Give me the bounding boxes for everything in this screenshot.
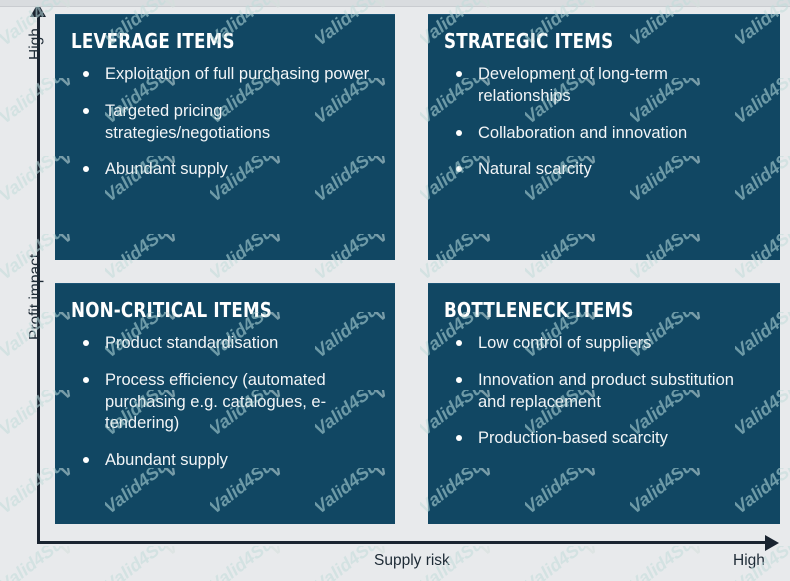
kraljic-matrix-diagram: High Profit impact Supply risk High LEVE… [0,0,790,581]
list-item: Exploitation of full purchasing power [69,64,377,86]
list-item: Process efficiency (automated purchasing… [69,370,377,435]
list-item-label: Natural scarcity [478,160,592,178]
list-item-label: Production-based scarcity [478,429,668,447]
list-item-label: Development of long-term relationships [478,65,668,105]
quadrant-bullet-list: Low control of suppliers Innovation and … [442,333,762,450]
bullet-dot-icon [456,71,462,77]
bullet-dot-icon [456,377,462,383]
bullet-dot-icon [456,130,462,136]
list-item: Innovation and product substitution and … [442,370,762,414]
list-item-label: Innovation and product substitution and … [478,371,734,411]
list-item: Collaboration and innovation [442,123,762,145]
y-axis-high-label: High [27,28,45,60]
x-axis-line [37,541,767,544]
quadrant-title: NON-CRITICAL ITEMS [71,299,356,321]
list-item-label: Product standardisation [105,334,278,352]
bullet-dot-icon [83,108,89,114]
list-item: Product standardisation [69,333,377,355]
list-item-label: Exploitation of full purchasing power [105,65,369,83]
quadrant-leverage-items: LEVERAGE ITEMS Exploitation of full purc… [55,14,395,260]
bullet-dot-icon [83,340,89,346]
bullet-dot-icon [456,166,462,172]
quadrant-title: LEVERAGE ITEMS [71,30,356,52]
list-item-label: Low control of suppliers [478,334,651,352]
list-item-label: Process efficiency (automated purchasing… [105,371,326,433]
list-item: Abundant supply [69,450,377,472]
list-item: Low control of suppliers [442,333,762,355]
bullet-dot-icon [456,340,462,346]
list-item: Development of long-term relationships [442,64,762,108]
bullet-dot-icon [456,435,462,441]
list-item-label: Abundant supply [105,160,228,178]
x-axis-arrowhead-icon [765,535,779,551]
bullet-dot-icon [83,377,89,383]
x-axis-high-label: High [733,552,765,570]
quadrant-bullet-list: Development of long-term relationships C… [442,64,762,181]
list-item-label: Targeted pricing strategies/negotiations [105,102,270,142]
top-divider-strip [0,0,790,7]
quadrant-bullet-list: Product standardisation Process efficien… [69,333,377,472]
bullet-dot-icon [83,166,89,172]
quadrant-title: STRATEGIC ITEMS [444,30,740,52]
x-axis-title: Supply risk [374,552,450,570]
bullet-dot-icon [83,71,89,77]
list-item: Natural scarcity [442,159,762,181]
y-axis-title: Profit impact [27,254,45,340]
list-item: Abundant supply [69,159,377,181]
list-item-label: Abundant supply [105,451,228,469]
quadrant-bullet-list: Exploitation of full purchasing power Ta… [69,64,377,181]
quadrant-bottleneck-items: BOTTLENECK ITEMS Low control of supplier… [428,283,780,524]
bullet-dot-icon [83,457,89,463]
list-item: Targeted pricing strategies/negotiations [69,101,377,145]
list-item-label: Collaboration and innovation [478,124,687,142]
quadrant-title: BOTTLENECK ITEMS [444,299,740,321]
quadrant-non-critical-items: NON-CRITICAL ITEMS Product standardisati… [55,283,395,524]
list-item: Production-based scarcity [442,428,762,450]
quadrant-strategic-items: STRATEGIC ITEMS Development of long-term… [428,14,780,260]
